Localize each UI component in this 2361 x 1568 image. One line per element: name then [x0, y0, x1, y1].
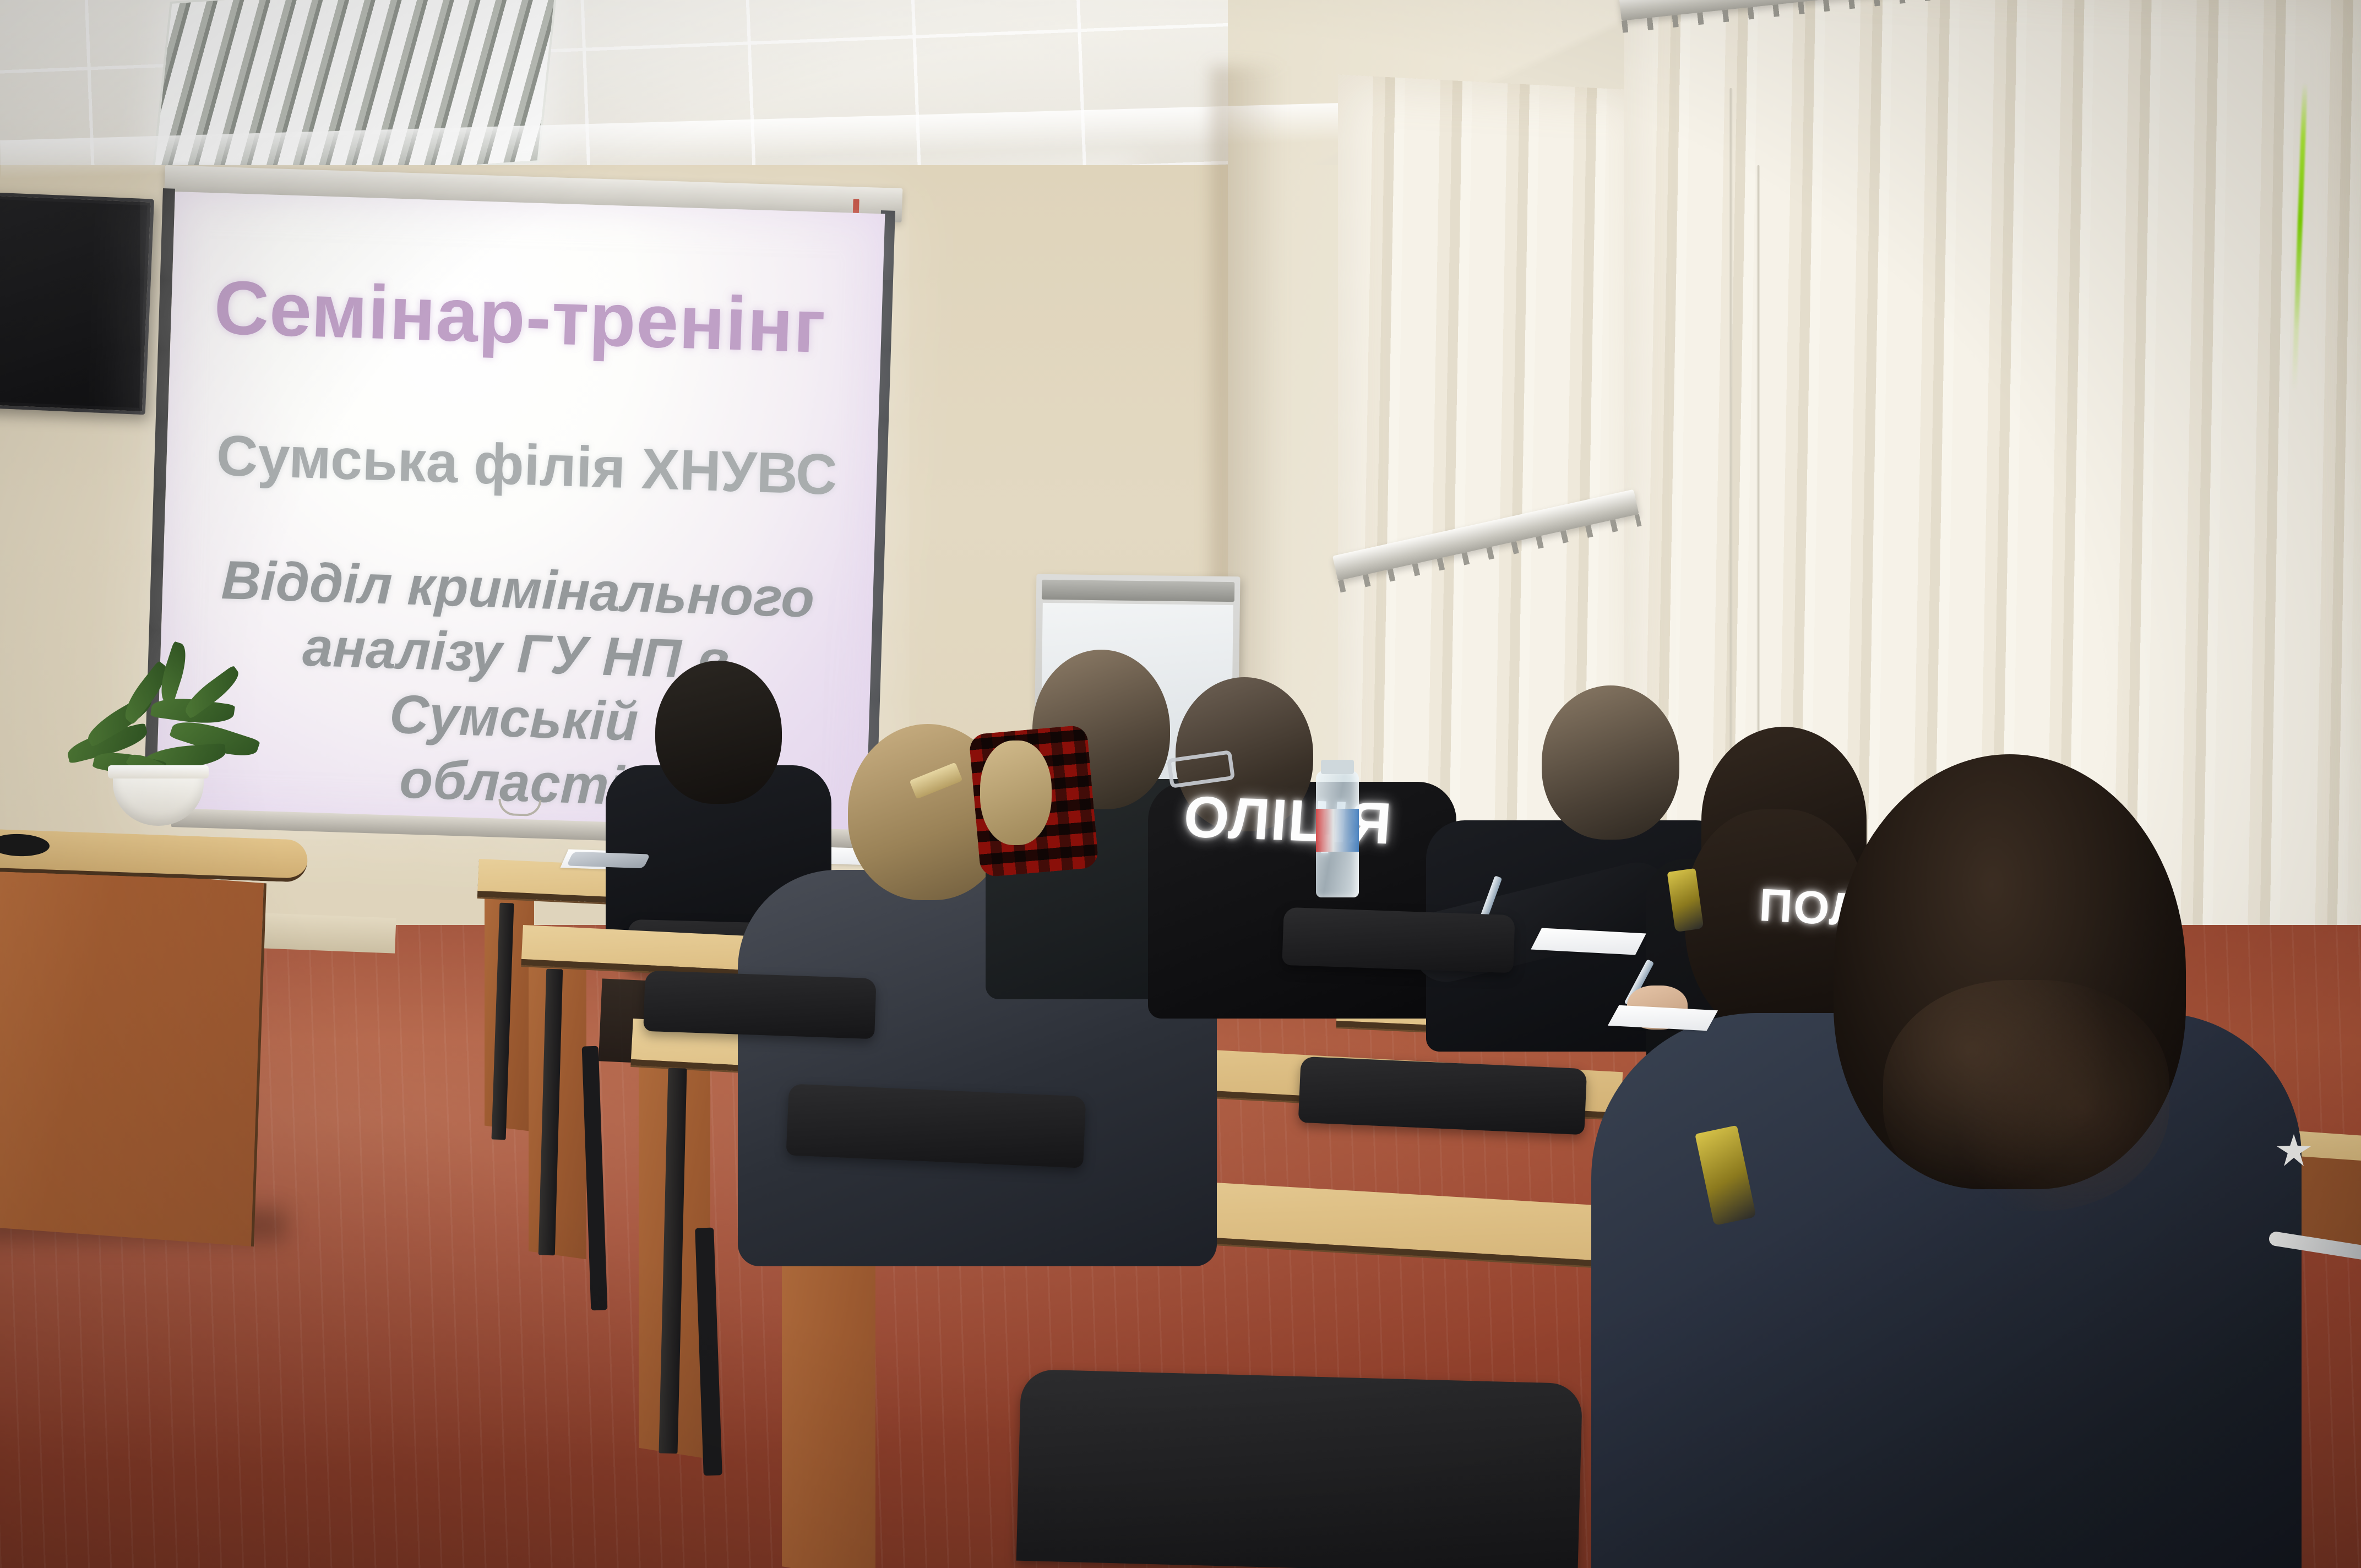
attendee-foreground-woman-hair-curls: [1883, 980, 2169, 1211]
attendee-plaid-hair: [980, 741, 1052, 845]
chair-row3-left[interactable]: [786, 1084, 1086, 1168]
chair-row2-right[interactable]: [1282, 907, 1515, 973]
attendee-right-man-head: [1542, 685, 1679, 840]
slide-title: Семінар-тренінг: [213, 268, 855, 367]
jacket-print-politsiya: ОЛІЦІЯ: [1182, 784, 1395, 858]
chair-row3-right[interactable]: [1298, 1057, 1587, 1135]
classroom-photo: Семінар-тренінг Сумська філія ХНУВС Відд…: [0, 0, 2361, 1568]
tv-screen: [0, 199, 148, 408]
flipchart-clamp: [1042, 580, 1234, 602]
chair-row4-center[interactable]: [1016, 1369, 1583, 1568]
slide-subtitle: Сумська філія ХНУВС: [215, 423, 856, 509]
lectern-body: [0, 862, 266, 1246]
status-led-indicator: [853, 199, 859, 213]
water-bottle[interactable]: [1316, 771, 1359, 897]
attendee-front-woman-head: [655, 661, 782, 804]
bottle-label: [1316, 809, 1359, 852]
wall-mounted-tv[interactable]: [0, 192, 154, 415]
phone-on-desk[interactable]: [567, 852, 650, 868]
bottle-cap: [1321, 760, 1353, 774]
chair-row2-left[interactable]: [643, 971, 877, 1039]
